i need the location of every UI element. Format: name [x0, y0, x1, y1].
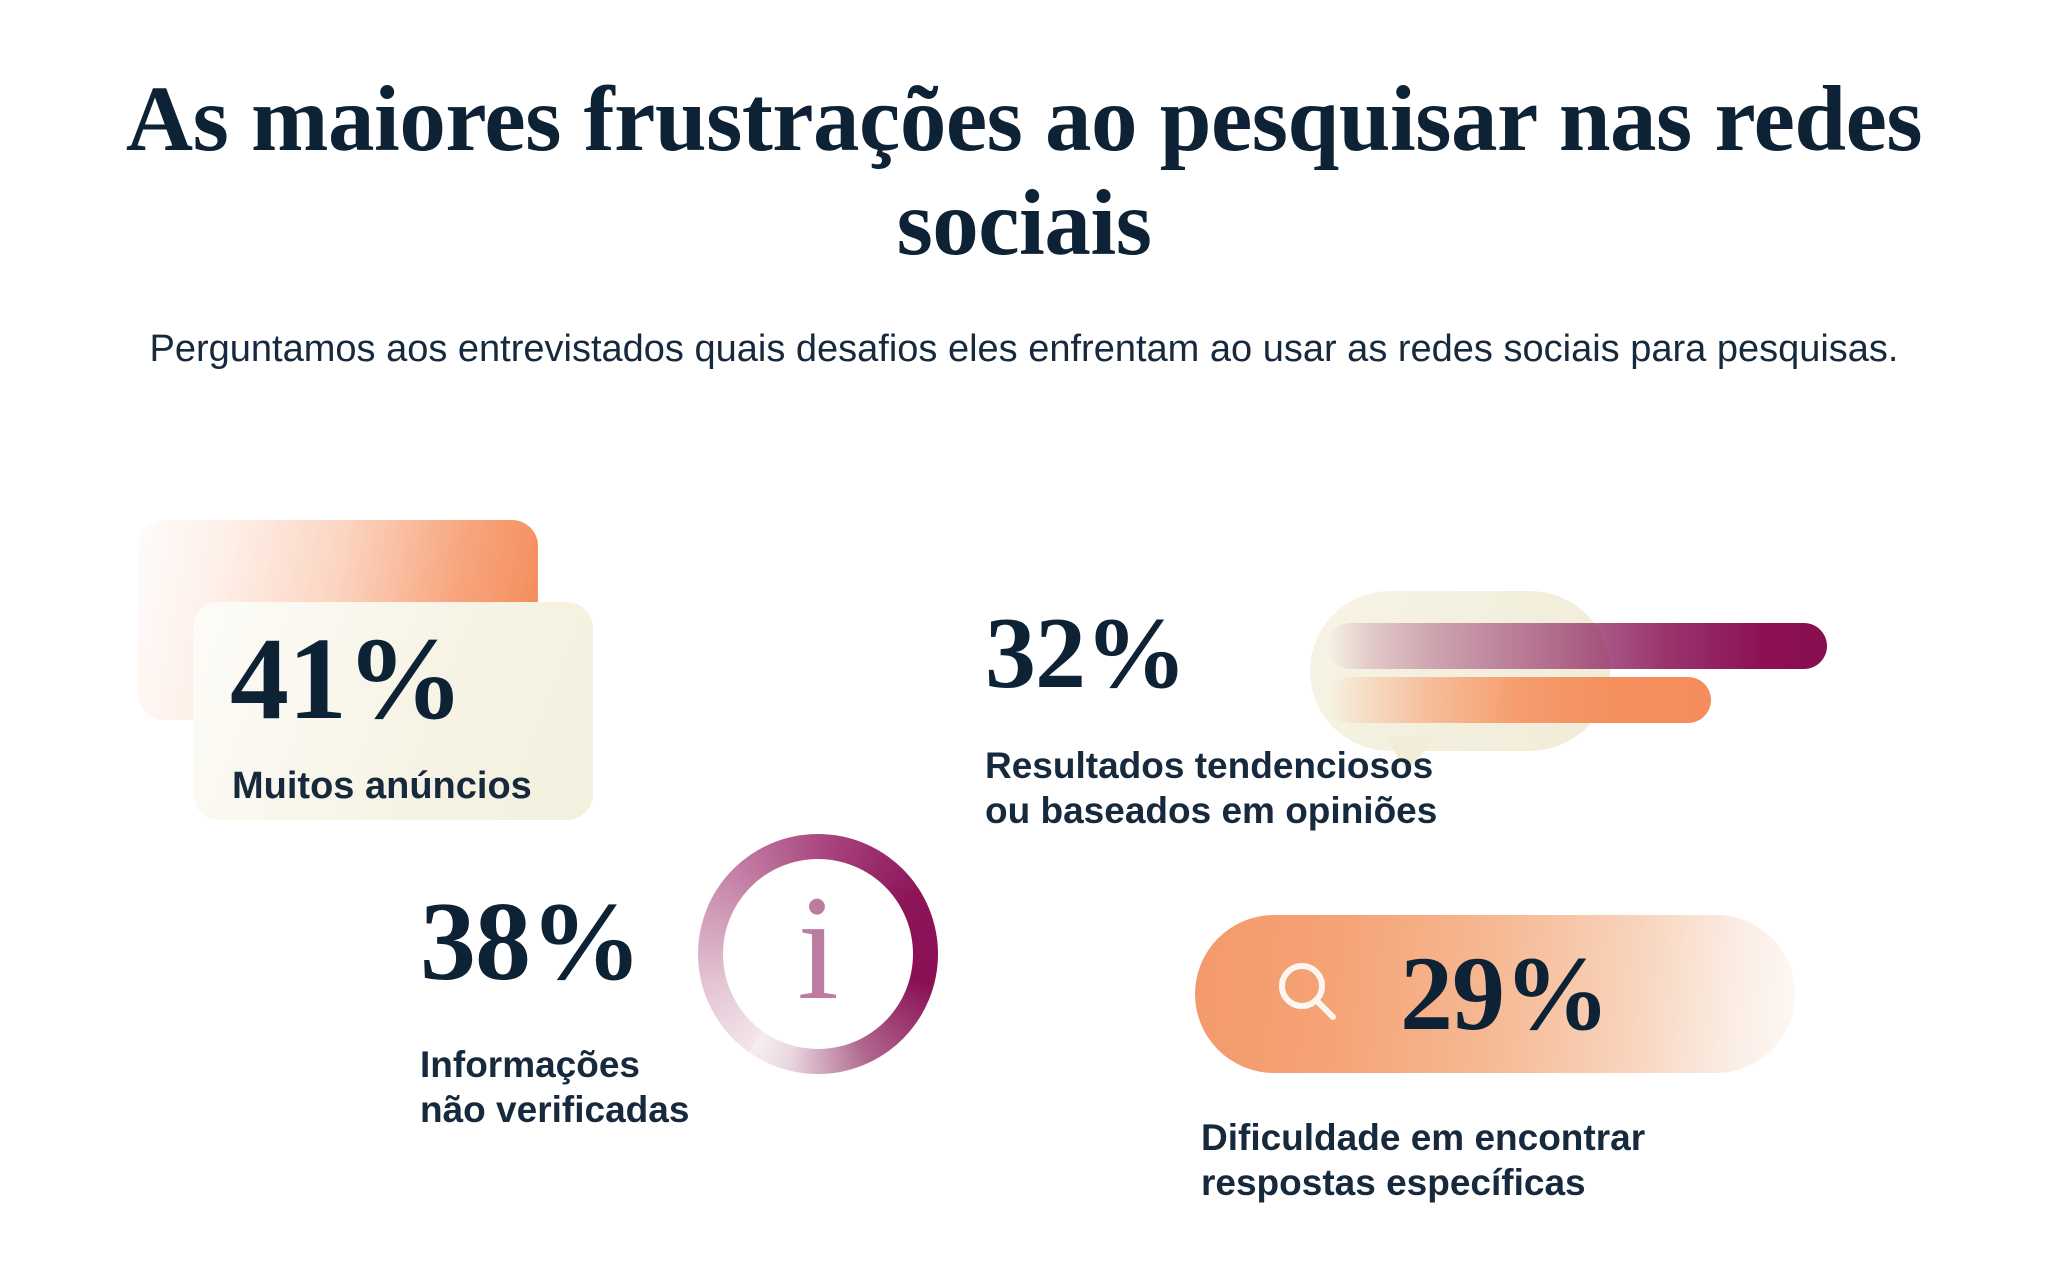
stat-label-resultados-tendenciosos: Resultados tendenciosos ou baseados em o…: [985, 743, 1437, 833]
stat-card-dificuldade-encontrar: 29% Dificuldade em encontrar respostas e…: [1195, 915, 1915, 1255]
speech-bubble-icon: [1310, 591, 1610, 751]
stat-label-muitos-anuncios: Muitos anúncios: [232, 763, 532, 809]
infographic-canvas: As maiores frustrações ao pesquisar nas …: [0, 0, 2048, 1283]
bar-purple-icon: [1327, 623, 1827, 669]
page-title: As maiores frustrações ao pesquisar nas …: [0, 0, 2048, 276]
stat-label-informacoes-nao-verificadas: Informações não verificadas: [420, 1042, 689, 1132]
stat-value-29: 29%: [1400, 941, 1609, 1047]
header: As maiores frustrações ao pesquisar nas …: [0, 0, 2048, 379]
bar-orange-icon: [1327, 677, 1711, 723]
stat-value-38: 38%: [420, 886, 641, 998]
stat-card-informacoes-nao-verificadas: i 38% Informações não verificadas: [420, 850, 980, 1240]
info-circle-icon: i: [698, 834, 938, 1074]
info-letter-i: i: [797, 873, 839, 1023]
stat-label-dificuldade-encontrar: Dificuldade em encontrar respostas espec…: [1201, 1115, 1645, 1205]
stat-value-32: 32%: [985, 603, 1186, 705]
page-subtitle: Perguntamos aos entrevistados quais desa…: [0, 276, 2048, 379]
stat-card-resultados-tendenciosos: 32% Resultados tendenciosos ou baseados …: [985, 585, 1845, 885]
search-icon: [1275, 959, 1343, 1027]
stat-value-41: 41%: [230, 620, 463, 738]
